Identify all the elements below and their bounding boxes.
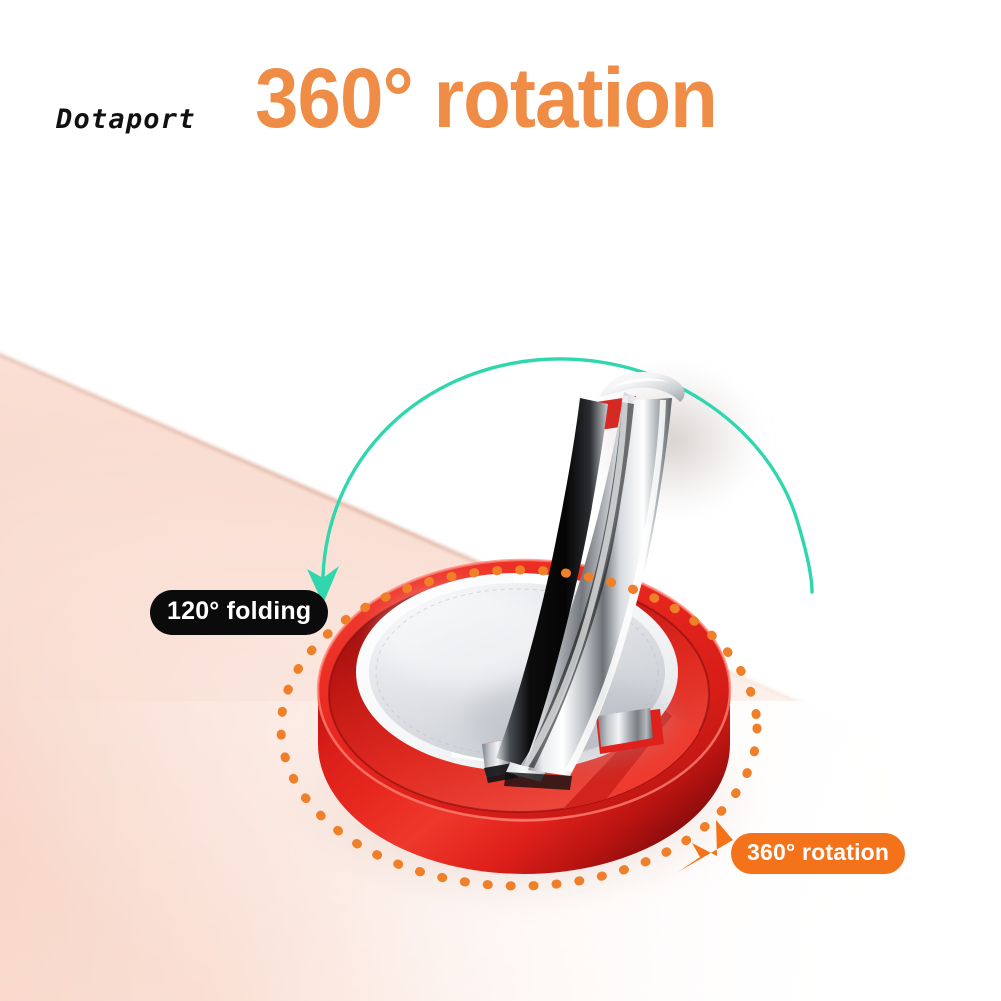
- rotation-label-text: 360° rotation: [747, 839, 889, 866]
- rotation-label-badge: 360° rotation: [731, 833, 905, 874]
- folding-label-badge: 120° folding: [150, 590, 328, 635]
- product-image-canvas: Dotaport 360° rotation: [0, 0, 1001, 1001]
- folding-label-text: 120° folding: [167, 597, 311, 626]
